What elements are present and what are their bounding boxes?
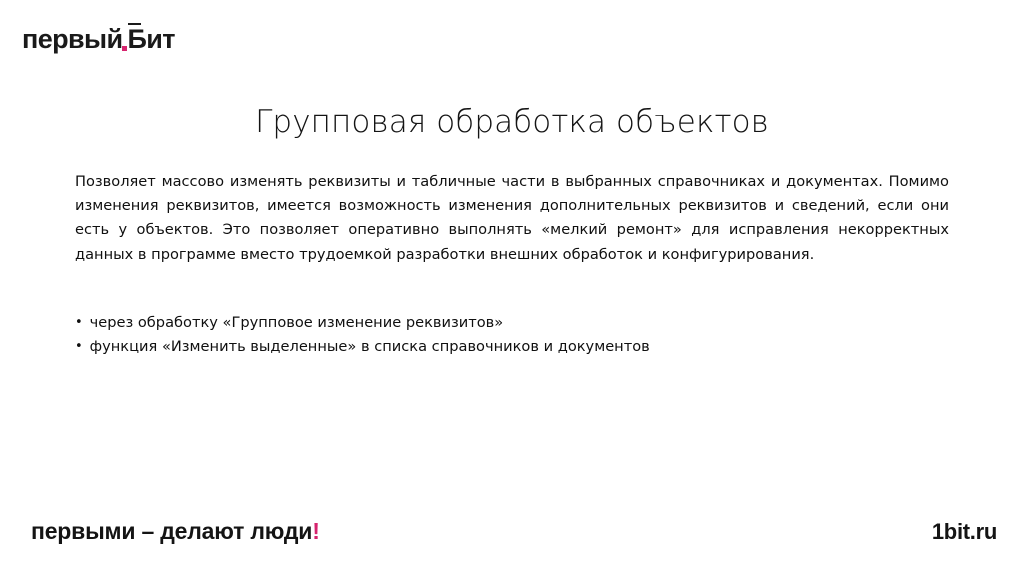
logo-word-first: первый [22,26,122,53]
logo-word-second: Бит [127,24,174,54]
footer-url: 1bit.ru [932,519,997,545]
bullet-glyph-icon: • [75,311,85,335]
bullet-glyph-icon: • [75,335,85,359]
footer-slogan-text: первыми – делают люди [31,518,312,544]
page-title: Групповая обработка объектов [0,103,1024,142]
list-item: • функция «Изменить выделенные» в списка… [75,335,949,359]
footer-slogan-accent: ! [312,518,319,544]
slide-canvas: первый Бит Групповая обработка объектов … [0,0,1024,574]
logo-overline-icon [128,23,141,25]
bullet-list: • через обработку «Групповое изменение р… [75,311,949,360]
list-item-label: через обработку «Групповое изменение рек… [90,314,504,331]
logo-second-group: Бит [127,26,174,53]
body-text-block: Позволяет массово изменять реквизиты и т… [75,170,949,267]
body-paragraph: Позволяет массово изменять реквизиты и т… [75,170,949,267]
list-item-label: функция «Изменить выделенные» в списка с… [90,338,650,355]
footer-slogan: первыми – делают люди! [31,518,320,546]
pervyy-bit-logo: первый Бит [22,23,175,53]
list-item: • через обработку «Групповое изменение р… [75,311,949,335]
